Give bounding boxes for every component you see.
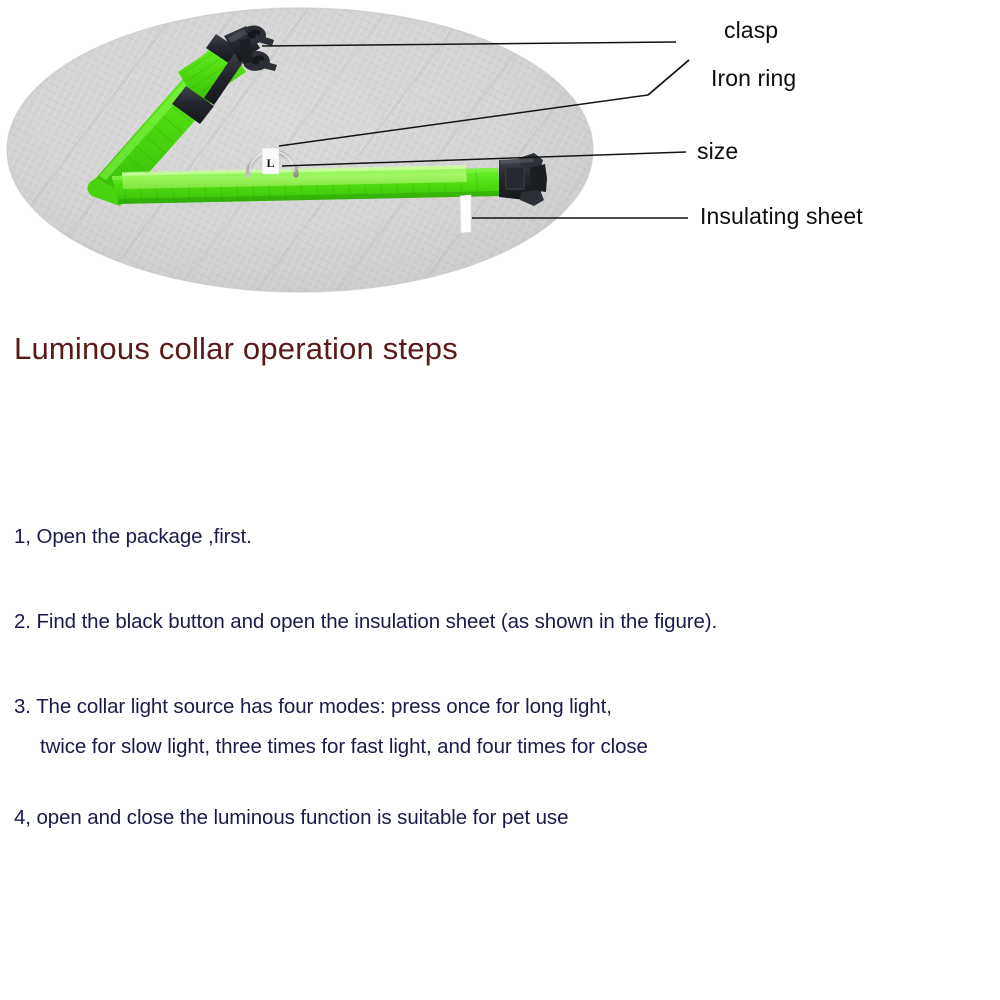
step-item-1: 1, Open the package ,first. — [14, 526, 252, 549]
collar-photo-illustration: L — [0, 0, 1000, 300]
step-item-4: 4, open and close the luminous function … — [14, 807, 568, 830]
instruction-page: L — [0, 0, 1000, 1000]
svg-text:L: L — [266, 156, 274, 170]
callout-label-insulating-sheet: Insulating sheet — [700, 205, 863, 228]
product-diagram: L — [0, 0, 1000, 300]
callout-label-size: size — [697, 140, 738, 163]
callout-label-iron-ring: Iron ring — [711, 67, 796, 90]
insulating-sheet-tab — [460, 195, 471, 233]
step-item-2: 2. Find the black button and open the in… — [14, 611, 717, 634]
leader-line-iron-ring-2 — [648, 60, 689, 95]
step-item-3-line-2: twice for slow light, three times for fa… — [40, 736, 648, 759]
step-item-3-line-1: 3. The collar light source has four mode… — [14, 696, 612, 719]
size-tag: L — [262, 148, 279, 174]
page-title: Luminous collar operation steps — [14, 331, 458, 367]
callout-label-clasp: clasp — [724, 19, 778, 42]
